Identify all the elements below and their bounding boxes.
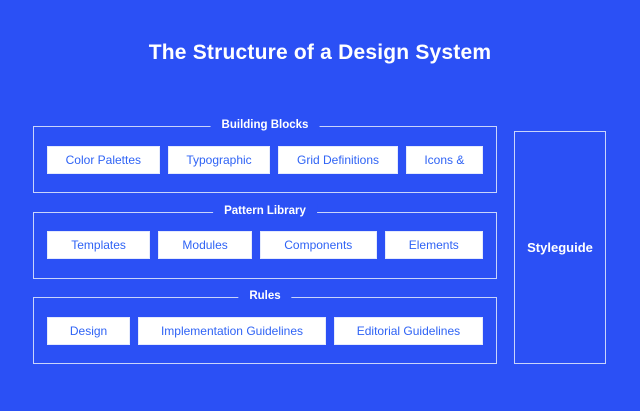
groups-column: Building Blocks Color Palettes Typograph… xyxy=(33,126,497,364)
item-templates[interactable]: Templates xyxy=(47,231,150,259)
item-editorial-guidelines[interactable]: Editorial Guidelines xyxy=(334,317,483,345)
group-legend-pattern-library: Pattern Library xyxy=(213,204,317,218)
item-implementation-guidelines[interactable]: Implementation Guidelines xyxy=(138,317,326,345)
group-items-rules: Design Implementation Guidelines Editori… xyxy=(47,317,483,345)
group-rules: Rules Design Implementation Guidelines E… xyxy=(33,297,497,364)
group-legend-rules: Rules xyxy=(238,289,291,303)
design-system-diagram: The Structure of a Design System Buildin… xyxy=(0,0,640,411)
group-items-building-blocks: Color Palettes Typographic Grid Definiti… xyxy=(47,146,483,174)
item-components[interactable]: Components xyxy=(260,231,377,259)
item-grid-definitions[interactable]: Grid Definitions xyxy=(278,146,397,174)
group-legend-building-blocks: Building Blocks xyxy=(211,118,320,132)
panel-styleguide-label: Styleguide xyxy=(527,240,593,255)
item-icons[interactable]: Icons & xyxy=(406,146,483,174)
group-building-blocks: Building Blocks Color Palettes Typograph… xyxy=(33,126,497,193)
group-items-pattern-library: Templates Modules Components Elements xyxy=(47,231,483,259)
item-modules[interactable]: Modules xyxy=(158,231,252,259)
item-elements[interactable]: Elements xyxy=(385,231,484,259)
page-title: The Structure of a Design System xyxy=(0,40,640,66)
item-color-palettes[interactable]: Color Palettes xyxy=(47,146,160,174)
item-design[interactable]: Design xyxy=(47,317,130,345)
item-typographic[interactable]: Typographic xyxy=(168,146,271,174)
group-pattern-library: Pattern Library Templates Modules Compon… xyxy=(33,212,497,279)
panel-styleguide[interactable]: Styleguide xyxy=(514,131,606,364)
